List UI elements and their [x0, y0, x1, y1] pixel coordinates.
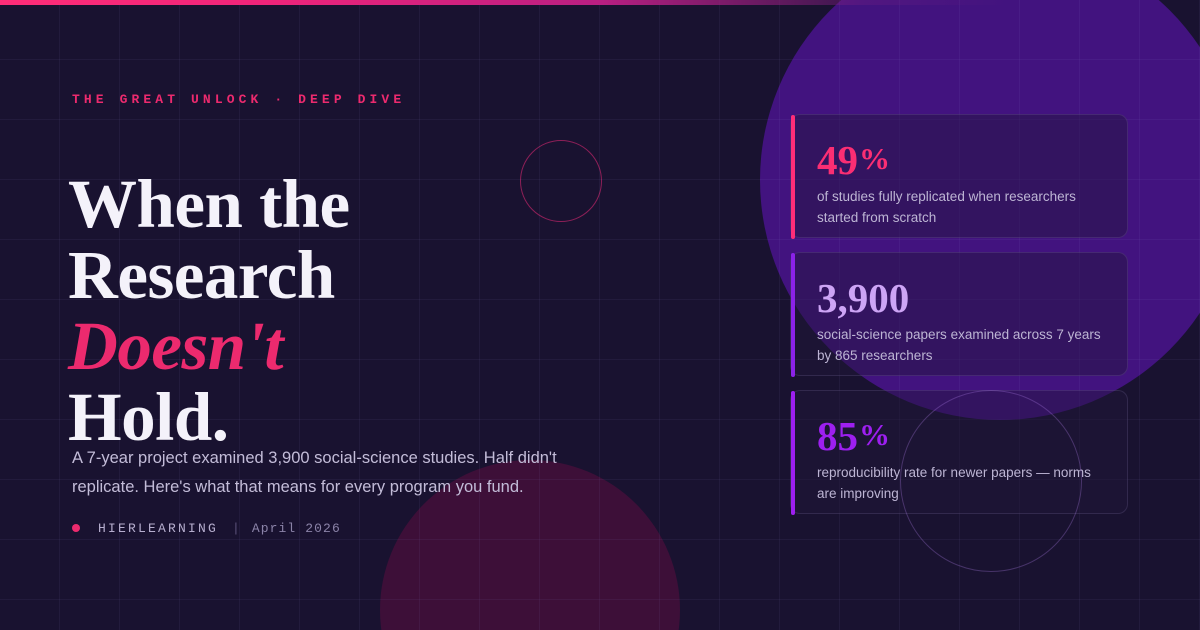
stat-card: 85% reproducibility rate for newer paper… — [790, 390, 1128, 514]
stat-unit: % — [859, 141, 890, 176]
page-title: When the Research Doesn't Hold. — [68, 169, 350, 453]
stat-value: 85% — [817, 413, 1105, 458]
stat-label: of studies fully replicated when researc… — [817, 186, 1105, 228]
stat-card: 49% of studies fully replicated when res… — [790, 114, 1128, 238]
stat-card-list: 49% of studies fully replicated when res… — [790, 114, 1128, 514]
stat-accent-bar — [791, 391, 795, 515]
brand-name: HIERLEARNING — [98, 521, 218, 536]
stat-accent-bar — [791, 115, 795, 239]
stat-label: reproducibility rate for newer papers — … — [817, 462, 1105, 504]
publication-date: April 2026 — [252, 521, 341, 536]
stat-number: 85 — [817, 413, 858, 459]
poster-canvas: THE GREAT UNLOCK · DEEP DIVE When the Re… — [0, 0, 1200, 630]
stat-value: 49% — [817, 137, 1105, 182]
left-content-column: THE GREAT UNLOCK · DEEP DIVE When the Re… — [72, 0, 712, 630]
stat-label: social-science papers examined across 7 … — [817, 324, 1105, 366]
stat-accent-bar — [791, 253, 795, 377]
footer-byline: HIERLEARNING | April 2026 — [72, 519, 341, 537]
footer-divider: | — [232, 521, 240, 536]
stat-unit: % — [859, 417, 890, 452]
headline-line-3-accent: Doesn't — [68, 308, 283, 384]
stat-number: 49 — [817, 137, 858, 183]
subheading-text: A 7-year project examined 3,900 social-s… — [72, 444, 592, 502]
top-accent-bar — [0, 0, 1200, 5]
stat-card: 3,900 social-science papers examined acr… — [790, 252, 1128, 376]
headline-line-1: When the — [68, 166, 350, 242]
eyebrow-kicker: THE GREAT UNLOCK · DEEP DIVE — [72, 92, 405, 107]
bullet-dot-icon — [72, 524, 80, 532]
headline-line-2: Research — [68, 237, 335, 313]
stat-value: 3,900 — [817, 275, 1105, 320]
stat-number: 3,900 — [817, 275, 909, 321]
